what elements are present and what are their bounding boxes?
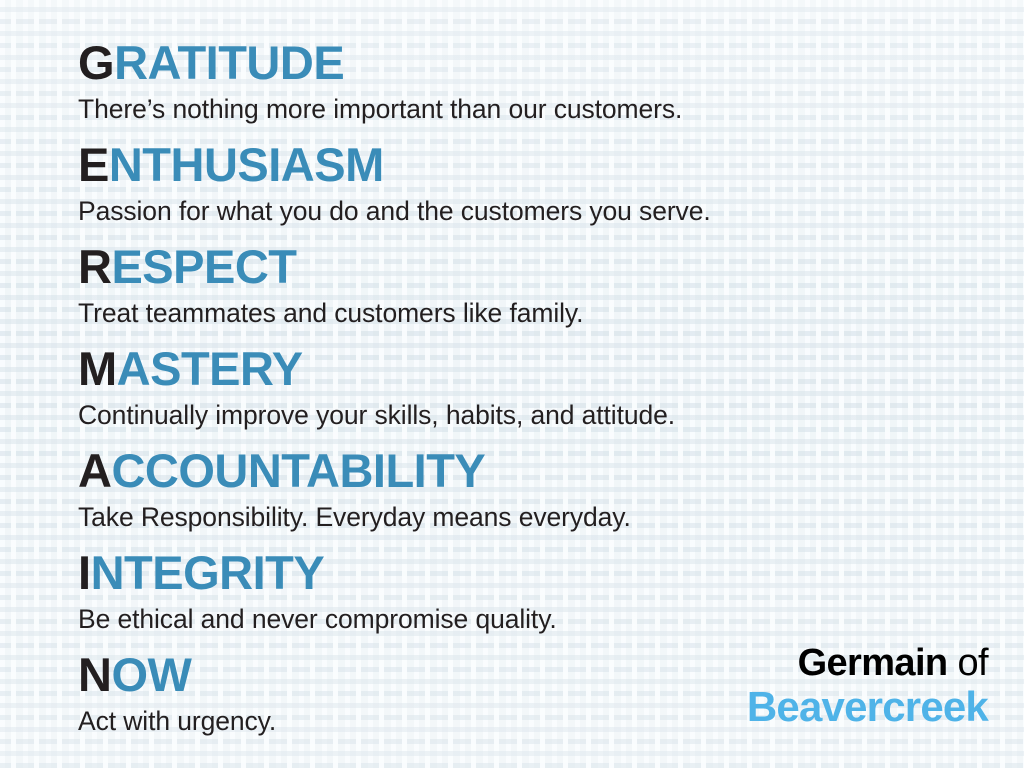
core-values-poster: GRATITUDE There’s nothing more important…: [0, 0, 1024, 768]
value-initial-letter: N: [78, 648, 111, 701]
value-heading-respect: RESPECT: [78, 240, 958, 294]
value-heading-integrity: INTEGRITY: [78, 546, 958, 600]
value-heading-remainder: OW: [111, 648, 191, 701]
value-description-integrity: Be ethical and never compromise quality.: [78, 600, 958, 638]
value-heading-gratitude: GRATITUDE: [78, 36, 958, 90]
value-initial-letter: M: [78, 342, 117, 395]
value-description-enthusiasm: Passion for what you do and the customer…: [78, 192, 958, 230]
value-item-respect: RESPECT Treat teammates and customers li…: [78, 240, 958, 332]
value-initial-letter: I: [78, 546, 91, 599]
brand-location: Beavercreek: [747, 684, 988, 730]
value-initial-letter: G: [78, 36, 114, 89]
value-description-accountability: Take Responsibility. Everyday means ever…: [78, 498, 958, 536]
value-description-gratitude: There’s nothing more important than our …: [78, 90, 958, 128]
value-item-accountability: ACCOUNTABILITY Take Responsibility. Ever…: [78, 444, 958, 536]
value-item-gratitude: GRATITUDE There’s nothing more important…: [78, 36, 958, 128]
value-item-enthusiasm: ENTHUSIASM Passion for what you do and t…: [78, 138, 958, 230]
brand-logo-line-primary: Germain of: [747, 642, 988, 684]
brand-name: Germain: [798, 642, 948, 684]
value-heading-mastery: MASTERY: [78, 342, 958, 396]
value-heading-accountability: ACCOUNTABILITY: [78, 444, 958, 498]
value-heading-enthusiasm: ENTHUSIASM: [78, 138, 958, 192]
value-heading-remainder: ASTERY: [117, 342, 303, 395]
value-heading-remainder: NTHUSIASM: [109, 138, 384, 191]
brand-logo: Germain of Beavercreek: [747, 642, 988, 730]
value-item-integrity: INTEGRITY Be ethical and never compromis…: [78, 546, 958, 638]
value-item-mastery: MASTERY Continually improve your skills,…: [78, 342, 958, 434]
value-heading-remainder: RATITUDE: [114, 36, 344, 89]
value-description-mastery: Continually improve your skills, habits,…: [78, 396, 958, 434]
value-description-respect: Treat teammates and customers like famil…: [78, 294, 958, 332]
value-initial-letter: R: [78, 240, 111, 293]
brand-connector: of: [948, 642, 988, 684]
value-initial-letter: A: [78, 444, 111, 497]
value-initial-letter: E: [78, 138, 109, 191]
value-heading-remainder: ESPECT: [111, 240, 296, 293]
value-heading-remainder: CCOUNTABILITY: [111, 444, 485, 497]
value-heading-remainder: NTEGRITY: [91, 546, 325, 599]
